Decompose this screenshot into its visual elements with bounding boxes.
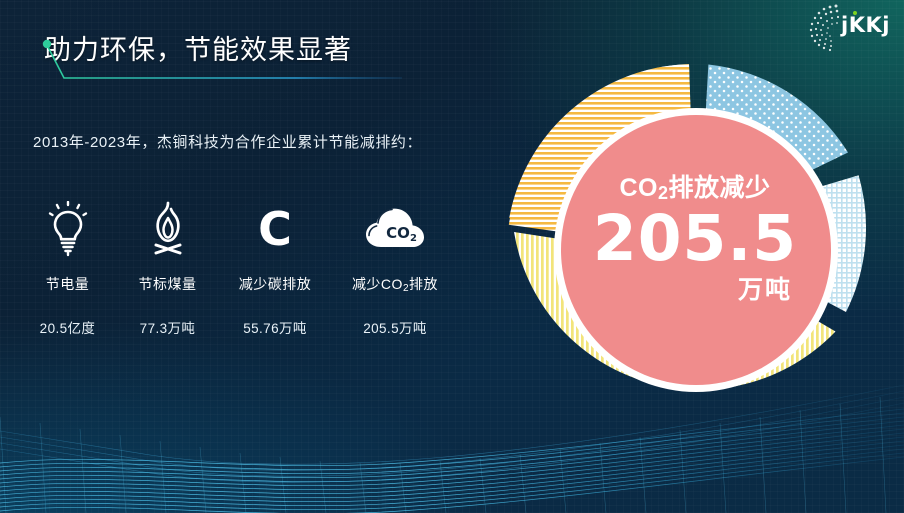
stat-label-post: 排放 — [409, 276, 438, 292]
stat-value: 77.3万吨 — [115, 317, 220, 337]
stat-value: 20.5亿度 — [20, 317, 115, 337]
svg-text:CO: CO — [386, 224, 410, 242]
donut-chart[interactable]: CO2排放减少 205.5 万吨 — [496, 52, 896, 452]
co2-cloud-icon: CO 2 — [330, 198, 460, 260]
slide-canvas: jKKj 助力环保，节能效果显著 2013年-2023年，杰锏科技为合作企业累计… — [0, 0, 904, 513]
stat-value: 205.5万吨 — [330, 317, 460, 337]
stat-label: 减少碳排放 — [220, 274, 330, 294]
stat-item-power-saved[interactable]: 节电量 20.5亿度 — [20, 198, 115, 337]
lightbulb-icon — [20, 198, 115, 260]
stat-label: 节标煤量 — [115, 274, 220, 294]
donut-center-fill — [561, 115, 831, 385]
carbon-c-icon: C — [220, 198, 330, 260]
stat-item-carbon-reduced[interactable]: C 减少碳排放 55.76万吨 — [220, 198, 330, 337]
page-title-block: 助力环保，节能效果显著 — [44, 36, 352, 66]
stat-label: 减少CO2排放 — [330, 274, 460, 294]
carbon-c-glyph: C — [258, 206, 292, 252]
stat-item-coal-saved[interactable]: 节标煤量 77.3万吨 — [115, 198, 220, 337]
stat-item-co2-reduced[interactable]: CO 2 减少CO2排放 205.5万吨 — [330, 198, 460, 337]
logo-wordmark: jKKj — [841, 13, 890, 37]
stat-value: 55.76万吨 — [220, 317, 330, 337]
stats-row: 节电量 20.5亿度 节标煤量 77.3万吨 C 减少碳排放 55.76万吨 — [20, 198, 490, 337]
stat-label-pre: 减少CO — [352, 276, 403, 292]
svg-text:2: 2 — [410, 233, 417, 244]
title-accent-line-icon — [42, 38, 402, 84]
stat-label: 节电量 — [20, 274, 115, 294]
campfire-icon — [115, 198, 220, 260]
brand-logo[interactable]: jKKj — [800, 0, 904, 56]
intro-paragraph: 2013年-2023年，杰锏科技为合作企业累计节能减排约： — [33, 128, 473, 158]
